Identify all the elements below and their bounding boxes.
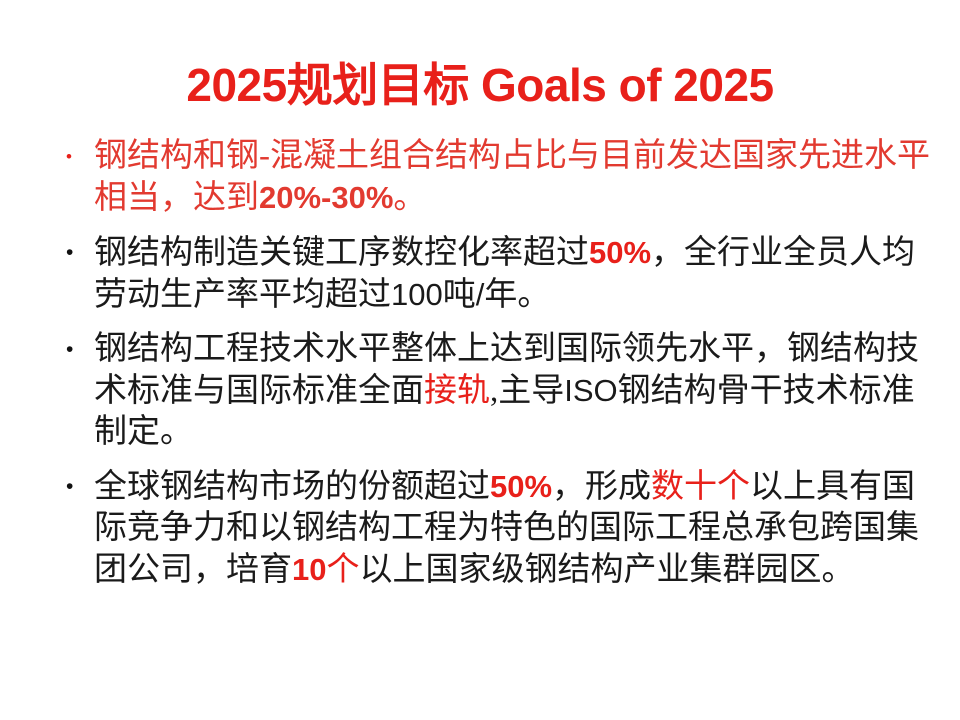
bullet-1-highlight-20-30-percent: 20%-30%: [259, 180, 393, 215]
bullet-2-highlight-50-percent: 50%: [589, 235, 651, 270]
bullet-text-2: 钢结构制造关键工序数控化率超过50%，全行业全员人均劳动生产率平均超过100吨/…: [94, 232, 932, 316]
presentation-slide: 2025规划目标 Goals of 2025 • 钢结构和钢-混凝土组合结构占比…: [0, 0, 960, 720]
bullet-2-segment-0: 钢结构制造关键工序数控化率超过: [94, 235, 589, 271]
bullet-item-3: • 钢结构工程技术水平整体上达到国际领先水平，钢结构技术标准与国际标准全面接轨,…: [52, 329, 932, 453]
bullet-1-segment-0: 钢结构和钢-混凝土组合结构占比与目前发达国家先进水平相当，达到: [94, 138, 930, 216]
bullet-3-segment-2: ,主导: [490, 373, 564, 409]
bullet-4-segment-7: 以上国家级钢结构产业集群园区。: [359, 552, 854, 588]
bullet-item-4: • 全球钢结构市场的份额超过50%，形成数十个以上具有国际竞争力和以钢结构工程为…: [52, 466, 932, 591]
bullet-2-unit-ton: 吨: [443, 277, 476, 313]
bullet-4-segment-2: ，形成: [552, 469, 651, 505]
bullet-4-highlight-50-percent: 50%: [490, 469, 552, 504]
bullet-4-segment-0: 全球钢结构市场的份额超过: [94, 469, 490, 505]
bullet-list: • 钢结构和钢-混凝土组合结构占比与目前发达国家先进水平相当，达到20%-30%…: [52, 136, 932, 604]
bullet-item-2: • 钢结构制造关键工序数控化率超过50%，全行业全员人均劳动生产率平均超过100…: [52, 232, 932, 316]
bullet-marker-icon: •: [52, 136, 94, 177]
slide-title: 2025规划目标 Goals of 2025: [0, 58, 960, 112]
bullet-text-3: 钢结构工程技术水平整体上达到国际领先水平，钢结构技术标准与国际标准全面接轨,主导…: [94, 329, 932, 453]
bullet-marker-icon: •: [52, 466, 94, 507]
bullet-1-segment-2: 。: [393, 180, 426, 216]
bullet-2-segment-6: 年。: [484, 277, 550, 313]
bullet-marker-icon: •: [52, 232, 94, 273]
bullet-4-highlight-dozens: 数十个: [651, 469, 750, 505]
bullet-text-4: 全球钢结构市场的份额超过50%，形成数十个以上具有国际竞争力和以钢结构工程为特色…: [94, 466, 932, 591]
bullet-4-value-10: 10: [292, 552, 326, 587]
bullet-marker-icon: •: [52, 329, 94, 370]
bullet-3-term-iso: ISO: [564, 373, 617, 408]
bullet-text-1: 钢结构和钢-混凝土组合结构占比与目前发达国家先进水平相当，达到20%-30%。: [94, 136, 932, 219]
bullet-4-unit-ge: 个: [326, 552, 359, 588]
bullet-2-value-100: 100: [391, 277, 443, 312]
bullet-item-1: • 钢结构和钢-混凝土组合结构占比与目前发达国家先进水平相当，达到20%-30%…: [52, 136, 932, 219]
bullet-3-highlight-jiegui: 接轨: [424, 373, 490, 409]
